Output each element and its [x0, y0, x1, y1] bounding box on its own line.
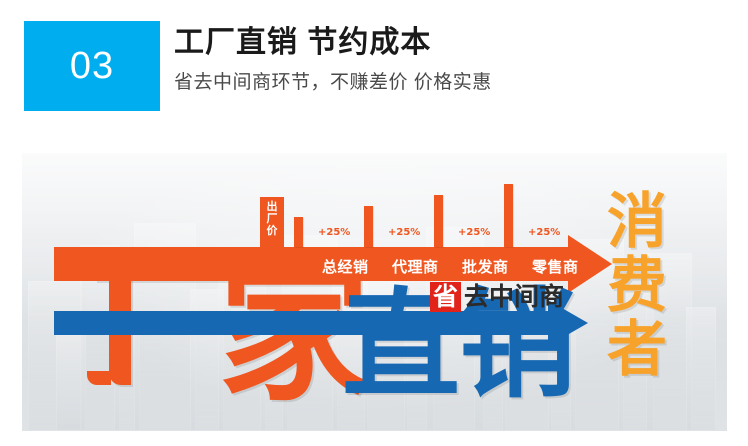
markup-percent-label-1: +25%	[388, 227, 420, 238]
saving-highlight-char: 省	[430, 282, 461, 312]
big-text-consumer: 消费者	[604, 190, 670, 382]
section-header: 03 工厂直销 节约成本 省去中间商环节，不赚差价 价格实惠	[0, 0, 748, 148]
diagram-content-layer: 家 总经销代理商批发商零售商 出厂价 +25%+25%+25%+25% 直销 省…	[22, 153, 727, 431]
saving-rest-text: 去中间商	[464, 283, 564, 311]
header-text-block: 工厂直销 节约成本 省去中间商环节，不赚差价 价格实惠	[174, 24, 714, 95]
page-title: 工厂直销 节约成本	[174, 24, 714, 62]
step-number-badge: 03	[24, 21, 160, 111]
ex-factory-char-2: 价	[264, 225, 280, 237]
markup-bar-0	[294, 217, 303, 247]
consumer-char-2: 者	[604, 318, 670, 382]
saving-banner: 省 去中间商	[430, 282, 564, 312]
markup-percent-label-2: +25%	[458, 227, 490, 238]
markup-bar-2	[434, 195, 443, 247]
ex-factory-label: 出厂价	[264, 201, 280, 237]
markup-percent-label-0: +25%	[318, 227, 350, 238]
consumer-char-1: 费	[604, 254, 670, 318]
direct-arrow-shaft	[54, 311, 554, 335]
step-number-label: 03	[70, 47, 114, 85]
direct-sale-arrow	[54, 311, 600, 335]
page-subtitle: 省去中间商环节，不赚差价 价格实惠	[174, 71, 714, 96]
markup-percent-label-3: +25%	[528, 227, 560, 238]
consumer-char-0: 消	[604, 190, 670, 254]
markup-bar-3	[504, 184, 513, 247]
markup-bar-1	[364, 206, 373, 247]
distribution-diagram-panel: 家 总经销代理商批发商零售商 出厂价 +25%+25%+25%+25% 直销 省…	[22, 153, 727, 431]
